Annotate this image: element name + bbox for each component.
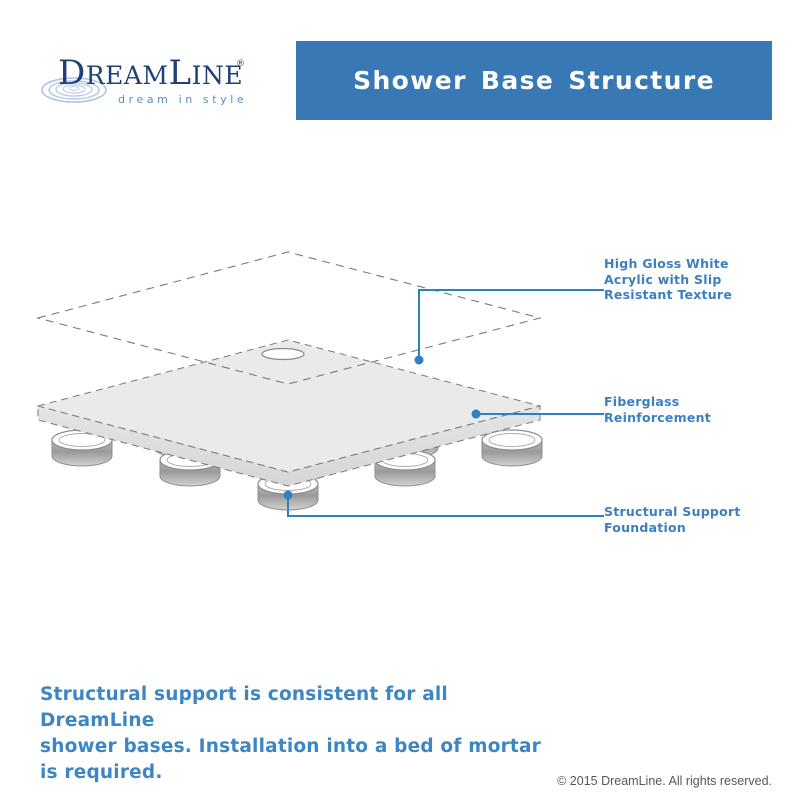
leader-dot <box>472 410 481 419</box>
support-ring <box>482 430 542 466</box>
page-title: Shower Base Structure <box>353 66 715 95</box>
leader-dot <box>415 356 424 365</box>
logo-tagline: dream in style <box>118 93 247 106</box>
dreamline-logo: DREAMLINE ® dream in style <box>40 46 285 118</box>
callout-label-acrylic: High Gloss White Acrylic with Slip Resis… <box>604 256 774 303</box>
drain-oval <box>262 349 304 360</box>
summary-caption: Structural support is consistent for all… <box>40 682 560 786</box>
header-bar: Shower Base Structure <box>296 41 772 120</box>
logo-registered-icon: ® <box>236 59 245 69</box>
callout-label-fiberglass: Fiberglass Reinforcement <box>604 394 774 425</box>
logo-wordmark-dream: DREAMLINE <box>58 53 243 93</box>
leader-line-support <box>284 491 605 517</box>
callout-label-support: Structural Support Foundation <box>604 504 779 535</box>
leader-dot <box>284 491 293 500</box>
page-root: DREAMLINE ® dream in style Shower Base S… <box>0 0 800 800</box>
logo-svg: DREAMLINE ® dream in style <box>40 46 285 118</box>
copyright-notice: © 2015 DreamLine. All rights reserved. <box>557 774 772 788</box>
fiberglass-layer <box>38 340 540 486</box>
leader-line-acrylic <box>415 290 605 365</box>
